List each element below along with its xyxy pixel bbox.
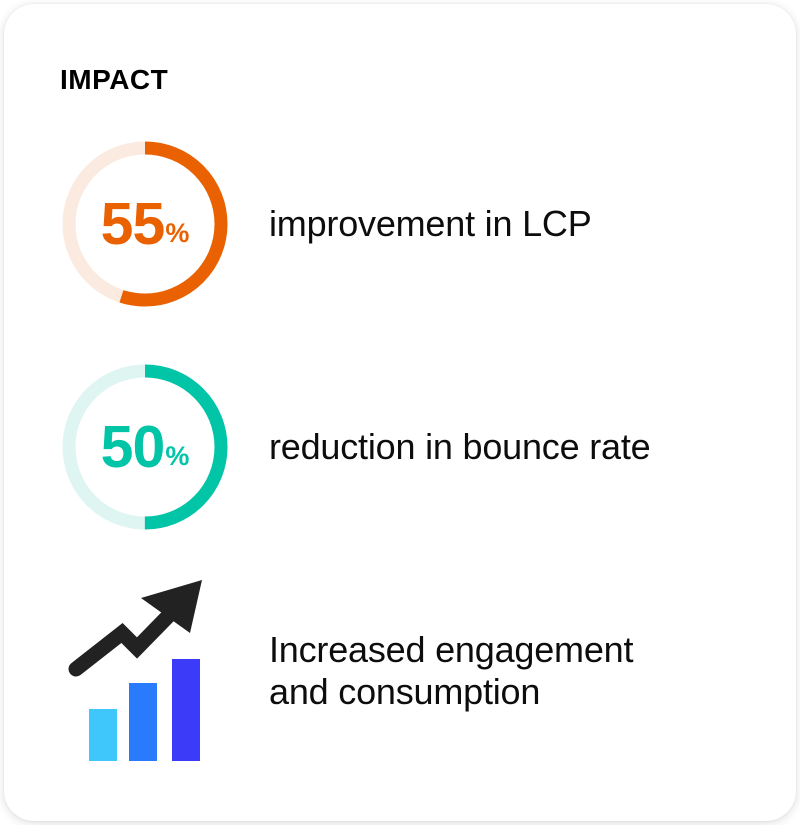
donut-center-value: 55 % (62, 141, 228, 307)
stat-row: 50 % reduction in bounce rate (62, 364, 650, 530)
donut-chart-icon: 50 % (62, 364, 228, 530)
trend-arrow-icon (76, 580, 202, 669)
donut-center-value: 50 % (62, 364, 228, 530)
stat-unit: % (165, 220, 189, 254)
bar (172, 659, 200, 761)
stat-label: Increased engagement and consumption (269, 629, 633, 714)
donut-chart-icon: 55 % (62, 141, 228, 307)
page-title: IMPACT (60, 66, 168, 94)
bar (129, 683, 157, 761)
stat-unit: % (165, 443, 189, 477)
stat-label: improvement in LCP (269, 203, 592, 245)
impact-card: IMPACT 55 % improvement in LCP (4, 4, 796, 821)
stat-label: reduction in bounce rate (269, 426, 650, 468)
bar (89, 709, 117, 761)
stat-row: 55 % improvement in LCP (62, 141, 592, 307)
stat-row: Increased engagement and consumption (62, 564, 633, 774)
stat-value: 50 (101, 418, 165, 477)
growth-bar-chart-arrow-icon (62, 564, 228, 774)
stat-value: 55 (101, 195, 165, 254)
